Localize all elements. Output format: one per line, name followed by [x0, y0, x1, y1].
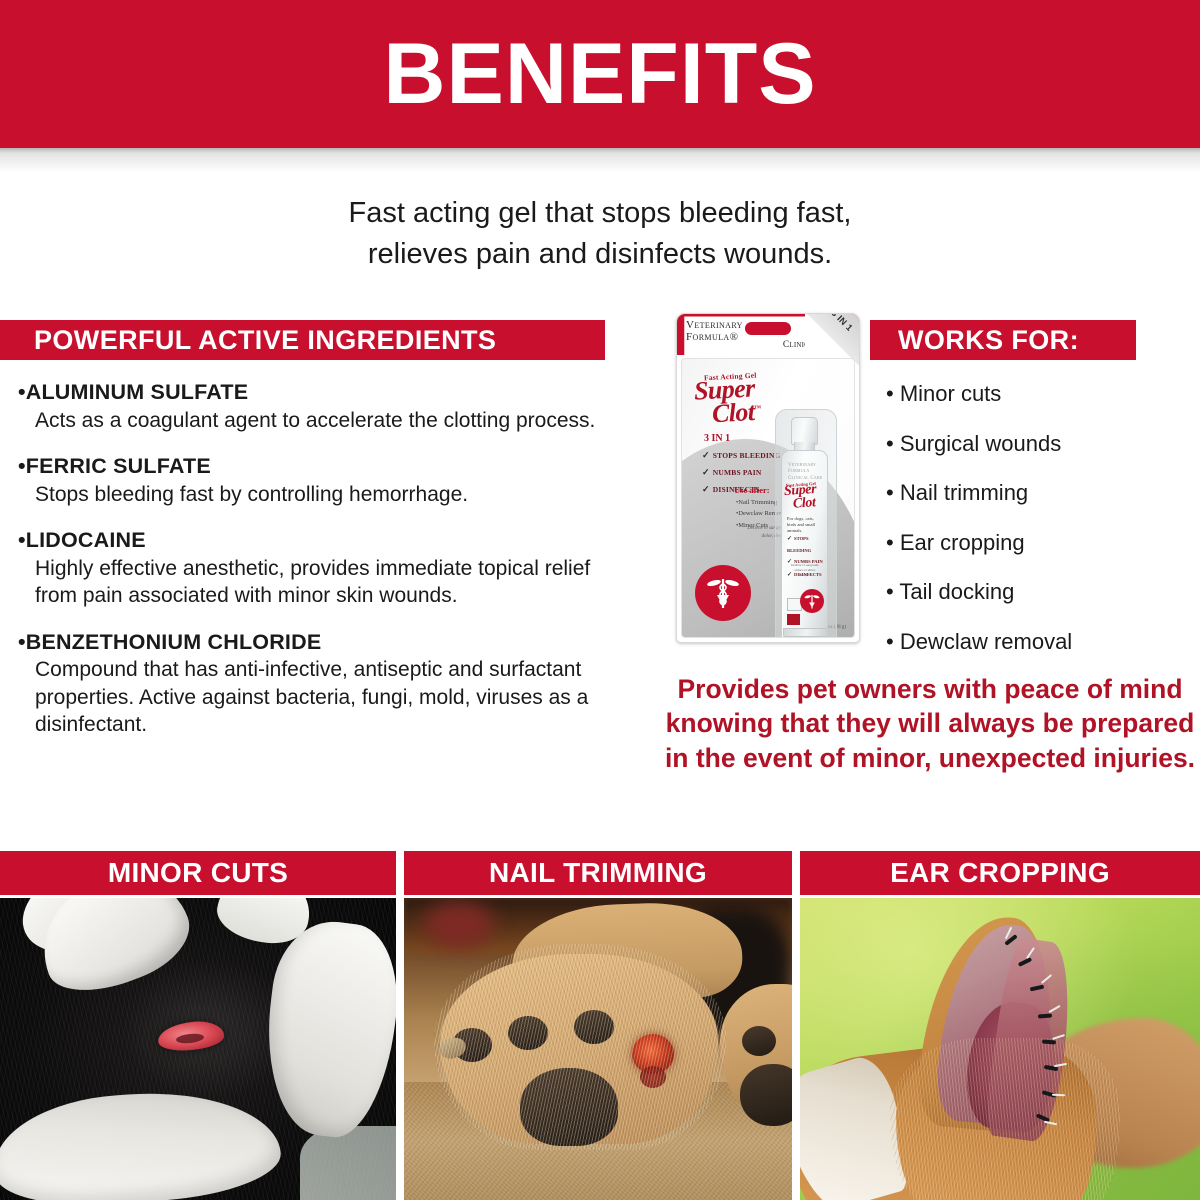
suture-thread [1048, 1005, 1060, 1013]
suture-thread [1041, 974, 1052, 984]
claim-text: NUMBS PAIN [713, 468, 762, 477]
ingredient-name-text: BENZETHONIUM CHLORIDE [26, 630, 322, 654]
list-item: • Minor cuts [886, 380, 1186, 408]
list-item: • Ear cropping [886, 529, 1186, 557]
product-package-image: Veterinary Formula® Clinical Care™ 3 IN … [676, 313, 860, 643]
suture-thread [1052, 1094, 1065, 1096]
page-header: BENEFITS [0, 0, 1200, 148]
photo-minor-cuts [0, 898, 396, 1200]
works-for-heading-label: WORKS FOR: [870, 325, 1079, 356]
photo-caption-label: EAR CROPPING [890, 857, 1110, 889]
bullet-icon: • [18, 454, 26, 478]
page-title: BENEFITS [383, 31, 816, 117]
claim-text: STOPS BLEEDING [713, 451, 781, 460]
tube-red-box [787, 614, 800, 625]
ingredient-description: Stops bleeding fast by controlling hemor… [18, 481, 604, 508]
photo-caption-label: NAIL TRIMMING [489, 857, 707, 889]
ingredient-name-text: ALUMINUM SULFATE [26, 380, 249, 404]
photo-caption-minor-cuts: MINOR CUTS [0, 851, 396, 895]
bullet-icon: • [18, 528, 26, 552]
photo-caption-nail-trimming: NAIL TRIMMING [404, 851, 792, 895]
ingredient-name: •FERRIC SULFATE [18, 454, 604, 480]
ingredient-description: Highly effective anesthetic, provides im… [18, 555, 604, 610]
tube-product-name-2: Clot [793, 497, 816, 511]
ingredients-section-header: POWERFUL ACTIVE INGREDIENTS [0, 320, 605, 360]
list-item: • Dewclaw removal [886, 628, 1186, 656]
check-icon: ✓ [787, 536, 792, 542]
subtitle-line-1: Fast acting gel that stops bleeding fast… [0, 193, 1200, 234]
list-item: •BENZETHONIUM CHLORIDE Compound that has… [18, 630, 604, 739]
bullet-icon: • [18, 380, 26, 404]
caduceus-icon [695, 565, 751, 621]
ingredient-name: •BENZETHONIUM CHLORIDE [18, 630, 604, 656]
ingredient-name-text: FERRIC SULFATE [26, 454, 211, 478]
ingredient-name: •ALUMINUM SULFATE [18, 380, 604, 406]
package-three-in-one: 3 IN 1 [704, 433, 730, 444]
tube-spanish-note: Detiene el sangrado, reduce el dolor, de… [790, 563, 820, 578]
list-item: • Tail docking [886, 578, 1186, 606]
photo-paw-pad [740, 1064, 792, 1126]
suture [1038, 1014, 1052, 1019]
package-body: Fast Acting Gel Super Clot™ 3 IN 1 ✓STOP… [681, 358, 855, 638]
suture-thread [1052, 1034, 1065, 1040]
list-item: •LIDOCAINE Highly effective anesthetic, … [18, 528, 604, 609]
photo-caption-label: MINOR CUTS [108, 857, 288, 889]
ingredients-heading-label: POWERFUL ACTIVE INGREDIENTS [0, 325, 496, 356]
package-product-name-2: Clot™ [711, 400, 761, 426]
check-icon: ✓ [702, 467, 710, 477]
subtitle-line-2: relieves pain and disinfects wounds. [0, 234, 1200, 275]
package-brand: Veterinary Formula® [686, 320, 743, 344]
list-item: •ALUMINUM SULFATE Acts as a coagulant ag… [18, 380, 604, 434]
ingredient-description: Compound that has anti-infective, antise… [18, 656, 604, 738]
photo-background-bokeh [424, 902, 494, 948]
works-for-list: • Minor cuts • Surgical wounds • Nail tr… [886, 380, 1186, 677]
tube-body: Veterinary Formula Clinical Care Fast Ac… [781, 450, 828, 638]
check-icon: ✓ [702, 450, 710, 460]
list-item: • Surgical wounds [886, 430, 1186, 458]
package-use-after-label: Use after: [734, 485, 770, 495]
photo-paw-pad [742, 1026, 776, 1056]
check-icon: ✓ [702, 484, 710, 494]
subtitle: Fast acting gel that stops bleeding fast… [0, 193, 1200, 275]
tube-caduceus-icon [800, 589, 824, 613]
package-clot-text: Clot [711, 397, 755, 428]
suture-thread [1044, 1121, 1057, 1126]
list-item: • Nail trimming [886, 479, 1186, 507]
ingredients-list: •ALUMINUM SULFATE Acts as a coagulant ag… [18, 380, 604, 758]
header-shadow-divider [0, 148, 1200, 174]
ingredient-name-text: LIDOCAINE [26, 528, 146, 552]
tube-crimp [783, 628, 828, 637]
bullet-icon: • [18, 630, 26, 654]
photo-sutures [990, 934, 1096, 1144]
list-item: ✓STOPS BLEEDING [702, 447, 781, 464]
photo-nail-trimming [404, 898, 792, 1200]
photo-ear-cropping [800, 898, 1200, 1200]
list-item: ✓STOPS BLEEDING [787, 533, 827, 556]
product-tube: Veterinary Formula Clinical Care Fast Ac… [780, 415, 828, 638]
tube-audience: For dogs, cats, birds and small animals. [787, 516, 823, 535]
works-for-section-header: WORKS FOR: [870, 320, 1136, 360]
photo-fur-texture [434, 944, 726, 1150]
trademark-symbol: ™ [754, 404, 761, 412]
list-item: ✓NUMBS PAIN [702, 464, 781, 481]
package-card: Veterinary Formula® Clinical Care™ 3 IN … [676, 313, 860, 643]
package-brand-line-2: Formula® [686, 332, 743, 344]
ingredient-name: •LIDOCAINE [18, 528, 604, 554]
photo-caption-ear-cropping: EAR CROPPING [800, 851, 1200, 895]
tube-cap [791, 417, 818, 445]
suture [1018, 957, 1032, 967]
suture [1030, 985, 1045, 992]
photo-background-object [300, 1126, 396, 1200]
tube-brand: Veterinary Formula Clinical Care [788, 463, 824, 482]
suture [1042, 1040, 1056, 1045]
suture-thread [1054, 1063, 1067, 1067]
ingredient-description: Acts as a coagulant agent to accelerate … [18, 407, 604, 434]
list-item: •FERRIC SULFATE Stops bleeding fast by c… [18, 454, 604, 508]
package-hang-tab [745, 322, 791, 335]
promo-paragraph: Provides pet owners with peace of mind k… [660, 672, 1200, 775]
